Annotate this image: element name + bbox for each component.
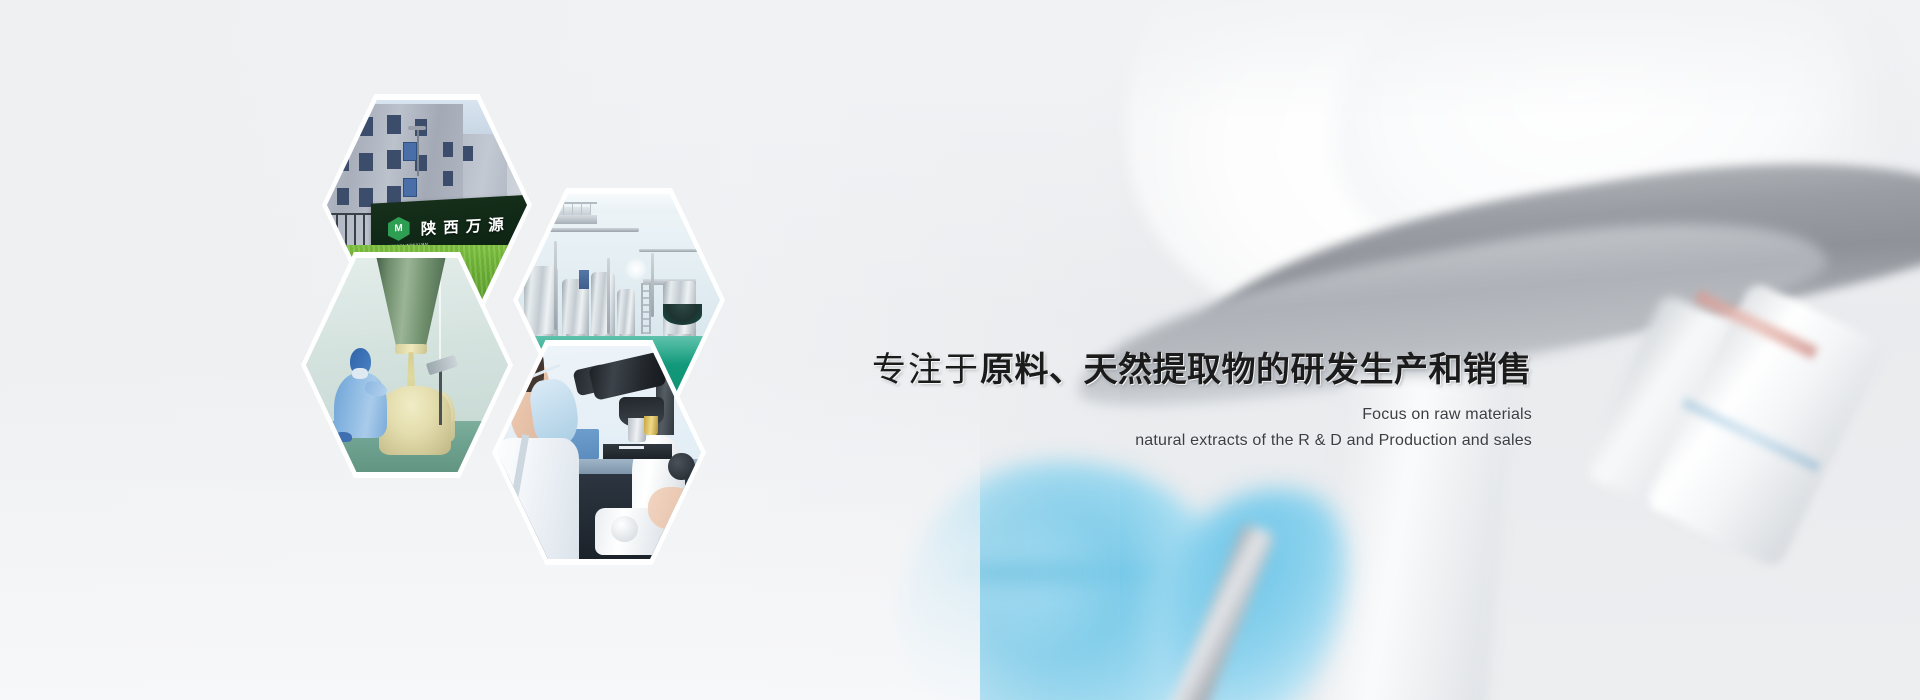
hex-tile-packing-image xyxy=(306,258,508,472)
company-logo: M SHAANXI WANYUAN xyxy=(388,216,410,241)
catwalk-platform xyxy=(524,215,597,223)
workshop-ceiling xyxy=(518,194,720,213)
window xyxy=(443,171,453,186)
banner-copy: 专注于原料、天然提取物的研发生产和销售 Focus on raw materia… xyxy=(772,348,1532,454)
equipment-stand xyxy=(439,369,442,425)
hexagon-image-cluster: M SHAANXI WANYUAN 陕西万源 xyxy=(300,80,720,480)
banner-headline: 专注于原料、天然提取物的研发生产和销售 xyxy=(772,348,1532,392)
company-name-text: 陕西万源 xyxy=(421,212,511,239)
headline-lead: 专注于 xyxy=(872,350,980,390)
hex-tile-lab-image xyxy=(497,346,701,559)
specimen-slide xyxy=(619,446,643,449)
lab-scene xyxy=(497,346,701,559)
ceiling-light-icon xyxy=(625,258,647,280)
pipe xyxy=(607,258,610,334)
worker-face-mask xyxy=(352,368,368,380)
subtitle-line-1: Focus on raw materials xyxy=(772,402,1532,428)
headline-emphasis: 原料、天然提取物的研发生产和销售 xyxy=(980,350,1532,390)
control-panel xyxy=(579,270,589,289)
packing-scene xyxy=(306,258,508,472)
logo-letter: M xyxy=(394,223,402,234)
extraction-tank xyxy=(524,266,558,336)
street-lamp-icon xyxy=(417,129,419,175)
window xyxy=(387,150,401,169)
hero-banner: M SHAANXI WANYUAN 陕西万源 xyxy=(0,0,1920,700)
pipe xyxy=(651,253,654,317)
window xyxy=(387,115,401,134)
worker-shoe-cover xyxy=(335,432,352,442)
window xyxy=(337,188,349,205)
hex-logo-mark: M xyxy=(388,216,410,241)
pipe xyxy=(554,241,557,330)
window xyxy=(337,121,349,138)
worker-figure xyxy=(334,348,387,438)
ac-unit xyxy=(403,142,417,161)
window xyxy=(463,146,473,161)
ac-unit xyxy=(403,178,417,197)
pipe xyxy=(526,228,639,232)
focus-knob xyxy=(668,453,695,481)
window xyxy=(359,153,373,172)
window xyxy=(337,155,349,172)
extraction-tank xyxy=(591,272,615,336)
illumination-knob xyxy=(611,516,638,542)
window xyxy=(359,117,373,136)
extraction-tank xyxy=(617,289,635,336)
subtitle-line-2: natural extracts of the R & D and Produc… xyxy=(772,428,1532,454)
access-ladder xyxy=(641,283,651,334)
window xyxy=(443,142,453,157)
pipe xyxy=(639,249,700,252)
microscope-objective-gold xyxy=(644,416,658,435)
banner-subtitle: Focus on raw materials natural extracts … xyxy=(772,402,1532,454)
